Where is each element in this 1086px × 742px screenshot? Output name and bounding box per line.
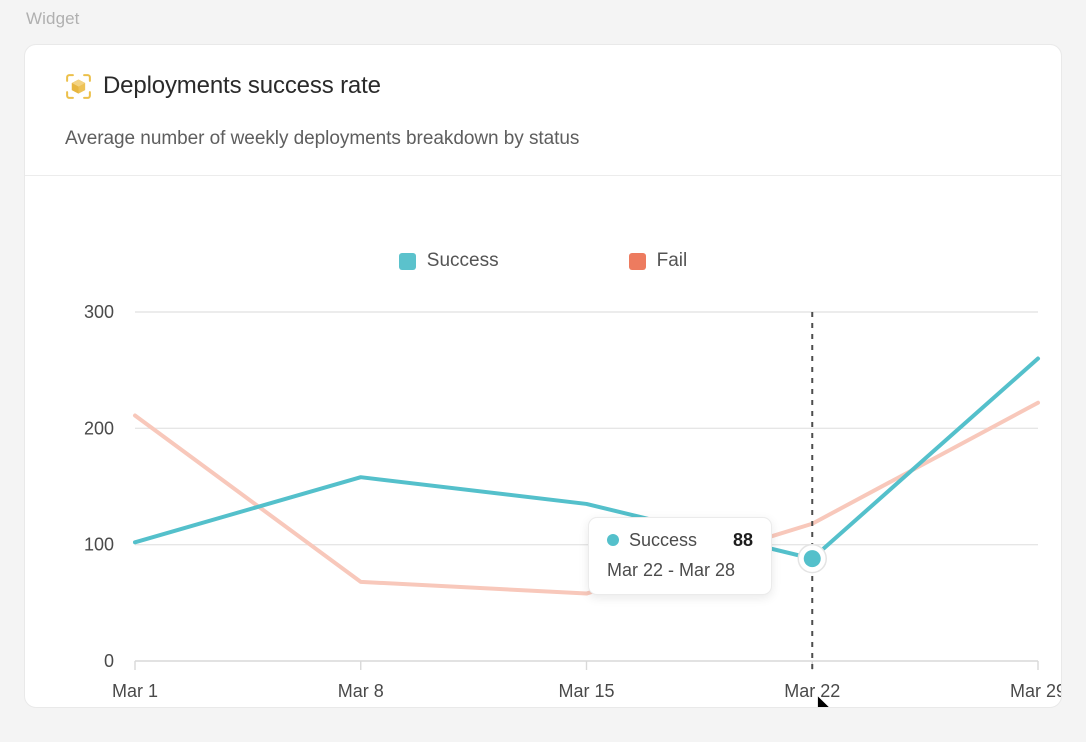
tooltip-series-label: Success	[629, 530, 697, 550]
chart-gridlines	[135, 312, 1038, 545]
tooltip-value: 88	[733, 530, 753, 550]
series-line-success[interactable]	[135, 359, 1038, 559]
chart-series-lines	[135, 359, 1038, 594]
line-chart-plot[interactable]: 0100200300 Mar 1Mar 8Mar 15Mar 22Mar 29	[25, 176, 1062, 708]
page-root: Widget Deployment	[0, 0, 1086, 742]
tooltip-series-dot	[607, 534, 619, 546]
chart-tooltip: Success 88 Mar 22 - Mar 28	[588, 517, 772, 595]
y-axis-tick-label: 300	[84, 302, 114, 322]
y-axis-tick-label: 0	[104, 651, 114, 671]
chart-x-axis-ticks: Mar 1Mar 8Mar 15Mar 22Mar 29	[112, 681, 1062, 701]
hover-marker-dot[interactable]	[804, 550, 821, 567]
x-axis-tick-label: Mar 29	[1010, 681, 1062, 701]
x-axis-tick-label: Mar 8	[338, 681, 384, 701]
title-row: Deployments success rate	[65, 72, 381, 100]
y-axis-tick-label: 200	[84, 418, 114, 438]
card-title: Deployments success rate	[103, 72, 381, 100]
y-axis-tick-label: 100	[84, 535, 114, 555]
card-header: Deployments success rate Average number …	[25, 45, 1061, 176]
chart-body: Success Fail 0100200300 Mar 1Mar 8Mar 15…	[25, 176, 1061, 708]
x-axis-tick-label: Mar 15	[558, 681, 614, 701]
chart-x-axis-line	[135, 661, 1038, 670]
x-axis-tick-label: Mar 22	[784, 681, 840, 701]
widget-label: Widget	[26, 8, 80, 30]
x-axis-tick-label: Mar 1	[112, 681, 158, 701]
series-line-fail[interactable]	[135, 403, 1038, 594]
tooltip-date-range: Mar 22 - Mar 28	[607, 559, 753, 581]
chart-hover-marker	[798, 545, 826, 573]
chart-widget-card: Deployments success rate Average number …	[24, 44, 1062, 708]
card-subtitle: Average number of weekly deployments bre…	[65, 127, 579, 151]
chart-y-axis-ticks: 0100200300	[84, 302, 114, 671]
tooltip-series-row: Success 88	[607, 530, 753, 550]
cube-scan-icon	[65, 73, 92, 100]
